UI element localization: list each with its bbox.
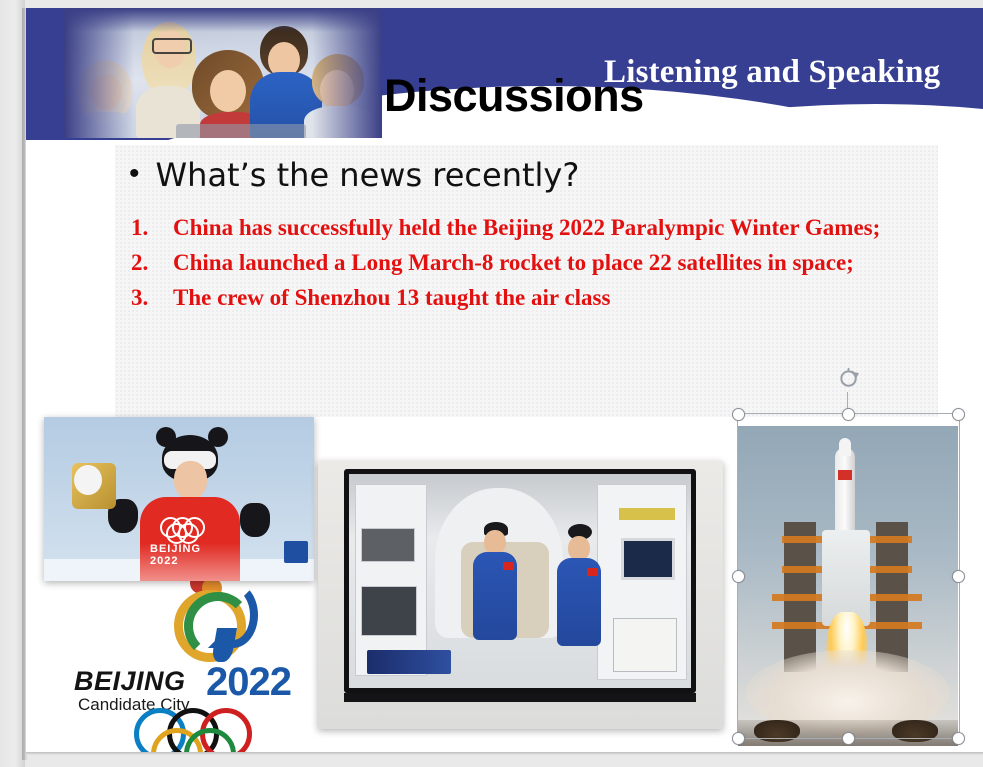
resize-handle-bottom-left[interactable] xyxy=(732,732,745,745)
resize-handle-top-right[interactable] xyxy=(952,408,965,421)
resize-handle-middle-left[interactable] xyxy=(732,570,745,583)
rocket-nose-cone xyxy=(839,438,851,456)
news-list: 1. China has successfully held the Beiji… xyxy=(131,211,911,316)
slide-subtitle: Listening and Speaking xyxy=(604,54,940,91)
rotate-icon[interactable] xyxy=(838,368,861,391)
resize-handle-top-left[interactable] xyxy=(732,408,745,421)
olympic-rings-icon xyxy=(160,517,220,535)
list-item-text: The crew of Shenzhou 13 taught the air c… xyxy=(173,281,911,314)
resize-handle-middle-right[interactable] xyxy=(952,570,965,583)
list-item: 3. The crew of Shenzhou 13 taught the ai… xyxy=(131,281,911,314)
bullet-marker: • xyxy=(129,157,140,191)
list-item-number: 2. xyxy=(131,246,163,279)
tv-lower-bezel xyxy=(344,693,696,702)
equipment-panel xyxy=(613,618,677,672)
laptop xyxy=(176,124,306,138)
eyeglasses xyxy=(152,38,192,54)
olympic-rings-icon xyxy=(134,708,284,752)
list-item-number: 1. xyxy=(131,211,163,244)
question-row: • What’s the news recently? xyxy=(129,155,919,195)
face xyxy=(174,461,207,499)
panda-mascot xyxy=(74,465,102,495)
logo-city-label: BEIJING xyxy=(74,666,186,697)
tv-screen xyxy=(349,474,691,688)
cabin-panel xyxy=(361,586,417,636)
list-item-text: China launched a Long March-8 rocket to … xyxy=(173,246,911,279)
onboard-monitor xyxy=(621,538,675,580)
foreground-foliage xyxy=(754,720,800,742)
resize-handle-top-center[interactable] xyxy=(842,408,855,421)
china-flag-marking xyxy=(838,470,852,480)
students-collage-image[interactable] xyxy=(64,8,382,138)
space-class-tv-image[interactable] xyxy=(318,461,723,729)
broadcast-caption-bar xyxy=(367,650,451,674)
foreground-foliage xyxy=(892,720,938,742)
cabin-wall-left xyxy=(355,484,427,676)
rocket-launch-image[interactable] xyxy=(738,426,958,746)
list-item-text: China has successfully held the Beijing … xyxy=(173,211,911,244)
jacket-text: BEIJING 2022 xyxy=(150,543,230,556)
glove-right xyxy=(240,503,270,537)
resize-handle-bottom-right[interactable] xyxy=(952,732,965,745)
list-item: 1. China has successfully held the Beiji… xyxy=(131,211,911,244)
skier-photo[interactable]: BEIJING 2022 xyxy=(44,417,314,581)
student-face xyxy=(210,70,246,112)
cabin-panel xyxy=(361,528,415,562)
beijing-2022-logo-image[interactable]: BEIJING Candidate City 2022 xyxy=(46,568,346,752)
content-text-box[interactable]: • What’s the news recently? 1. China has… xyxy=(115,145,938,417)
list-item: 2. China launched a Long March-8 rocket … xyxy=(131,246,911,279)
broadcaster-logo xyxy=(284,541,308,563)
list-item-number: 3. xyxy=(131,281,163,314)
logo-year-label: 2022 xyxy=(206,660,291,705)
collage-fade-top xyxy=(64,8,382,32)
resize-handle-bottom-center[interactable] xyxy=(842,732,855,745)
yellow-label xyxy=(619,508,675,520)
slide-bottom-edge xyxy=(26,752,983,755)
question-text: What’s the news recently? xyxy=(156,155,580,195)
